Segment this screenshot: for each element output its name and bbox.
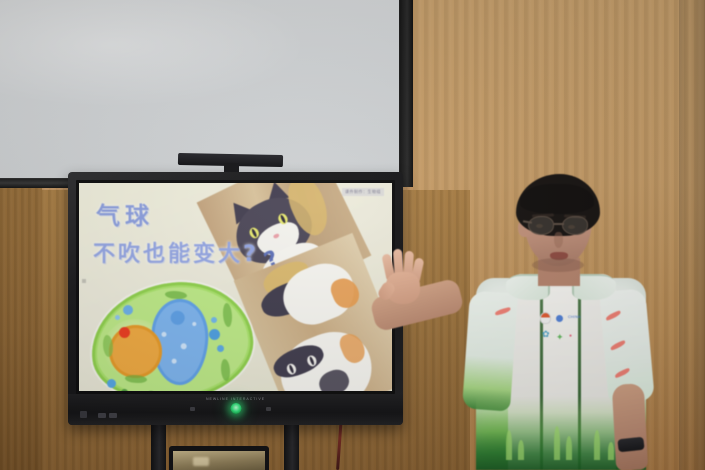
sponsor-label: CHINA bbox=[568, 316, 581, 320]
glasses-bridge bbox=[554, 223, 564, 225]
event-emblem: ✿ ✦ ● bbox=[542, 330, 578, 346]
desk-monitor-screen bbox=[173, 451, 265, 470]
sponsor-mark-icon bbox=[556, 315, 563, 322]
whiteboard-sheen bbox=[0, 0, 399, 178]
school-crest-icon bbox=[540, 312, 551, 324]
wrist-watch bbox=[617, 437, 644, 453]
bezel-mark bbox=[266, 407, 271, 411]
vacuole-inclusion bbox=[171, 359, 176, 364]
sleeve-mark bbox=[605, 310, 622, 321]
organelle bbox=[123, 305, 133, 315]
desk-monitor-below-display[interactable] bbox=[169, 446, 269, 470]
sleeve-mark bbox=[610, 340, 627, 351]
grass-blade bbox=[608, 442, 614, 460]
vacuole-inclusion bbox=[181, 343, 187, 349]
screen-glare bbox=[193, 457, 209, 466]
sleeve-mark bbox=[614, 368, 631, 379]
organelle bbox=[211, 317, 217, 323]
menu-button[interactable] bbox=[80, 411, 87, 418]
display-stand-post-right bbox=[284, 424, 299, 470]
display-brand-label: NEWLINE INTERACTIVE bbox=[206, 397, 265, 401]
plant-cell-diagram bbox=[91, 283, 253, 391]
organelle bbox=[107, 379, 116, 388]
display-stand-post-left bbox=[151, 424, 166, 470]
wall-panel-seam bbox=[679, 0, 705, 470]
grass-blade bbox=[518, 440, 524, 460]
grass-blade bbox=[566, 436, 572, 460]
interactive-flat-panel[interactable]: ? bbox=[68, 172, 403, 425]
right-arm bbox=[612, 383, 648, 470]
nucleus bbox=[109, 325, 162, 378]
hair-fringe bbox=[520, 184, 594, 214]
power-indicator[interactable] bbox=[230, 403, 241, 414]
raised-open-hand bbox=[380, 248, 424, 304]
slide-title: 气球 bbox=[96, 196, 154, 231]
display-screen[interactable]: ? bbox=[79, 183, 392, 391]
emblem-glyph-icon: ✿ bbox=[542, 330, 550, 340]
organelle bbox=[217, 345, 224, 352]
glasses-lens-right bbox=[562, 216, 588, 235]
nucleolus bbox=[119, 327, 130, 338]
bezel-mark bbox=[190, 407, 195, 411]
nose bbox=[554, 232, 563, 248]
presentation-slide: ? bbox=[79, 183, 392, 391]
organelle bbox=[209, 329, 220, 340]
vacuole-inclusion bbox=[192, 322, 196, 326]
display-bottom-bezel: NEWLINE INTERACTIVE bbox=[68, 394, 403, 425]
grass-blade bbox=[554, 426, 560, 460]
emblem-glyph-icon: ✦ bbox=[556, 332, 564, 343]
hdmi-port[interactable] bbox=[109, 413, 117, 418]
sleeve-mark bbox=[494, 307, 511, 316]
organelle bbox=[121, 389, 128, 391]
grass-blade bbox=[594, 430, 600, 460]
student-presenter: CHINA ✿ ✦ ● bbox=[432, 170, 662, 470]
jacket-sleeve-left bbox=[462, 290, 518, 411]
emblem-glyph-icon: ● bbox=[569, 333, 572, 339]
grass-blade bbox=[506, 430, 512, 460]
slide-subtitle: 不吹也能变大? bbox=[93, 236, 259, 268]
usb-port[interactable] bbox=[98, 413, 106, 418]
jaw-shadow bbox=[532, 258, 584, 272]
classroom-scene: ? bbox=[0, 0, 705, 470]
bezel-ports[interactable] bbox=[98, 413, 117, 418]
glasses-lens-left bbox=[528, 216, 554, 235]
slide-corner-mark bbox=[82, 279, 86, 283]
organelle bbox=[115, 315, 120, 320]
vacuole-inclusion bbox=[161, 332, 166, 337]
vacuole-inclusion bbox=[170, 310, 185, 325]
slide-watermark: 课件制作：生物组 bbox=[342, 188, 384, 196]
whiteboard-frame-right bbox=[400, 0, 413, 187]
chest-logos: CHINA bbox=[540, 312, 581, 324]
